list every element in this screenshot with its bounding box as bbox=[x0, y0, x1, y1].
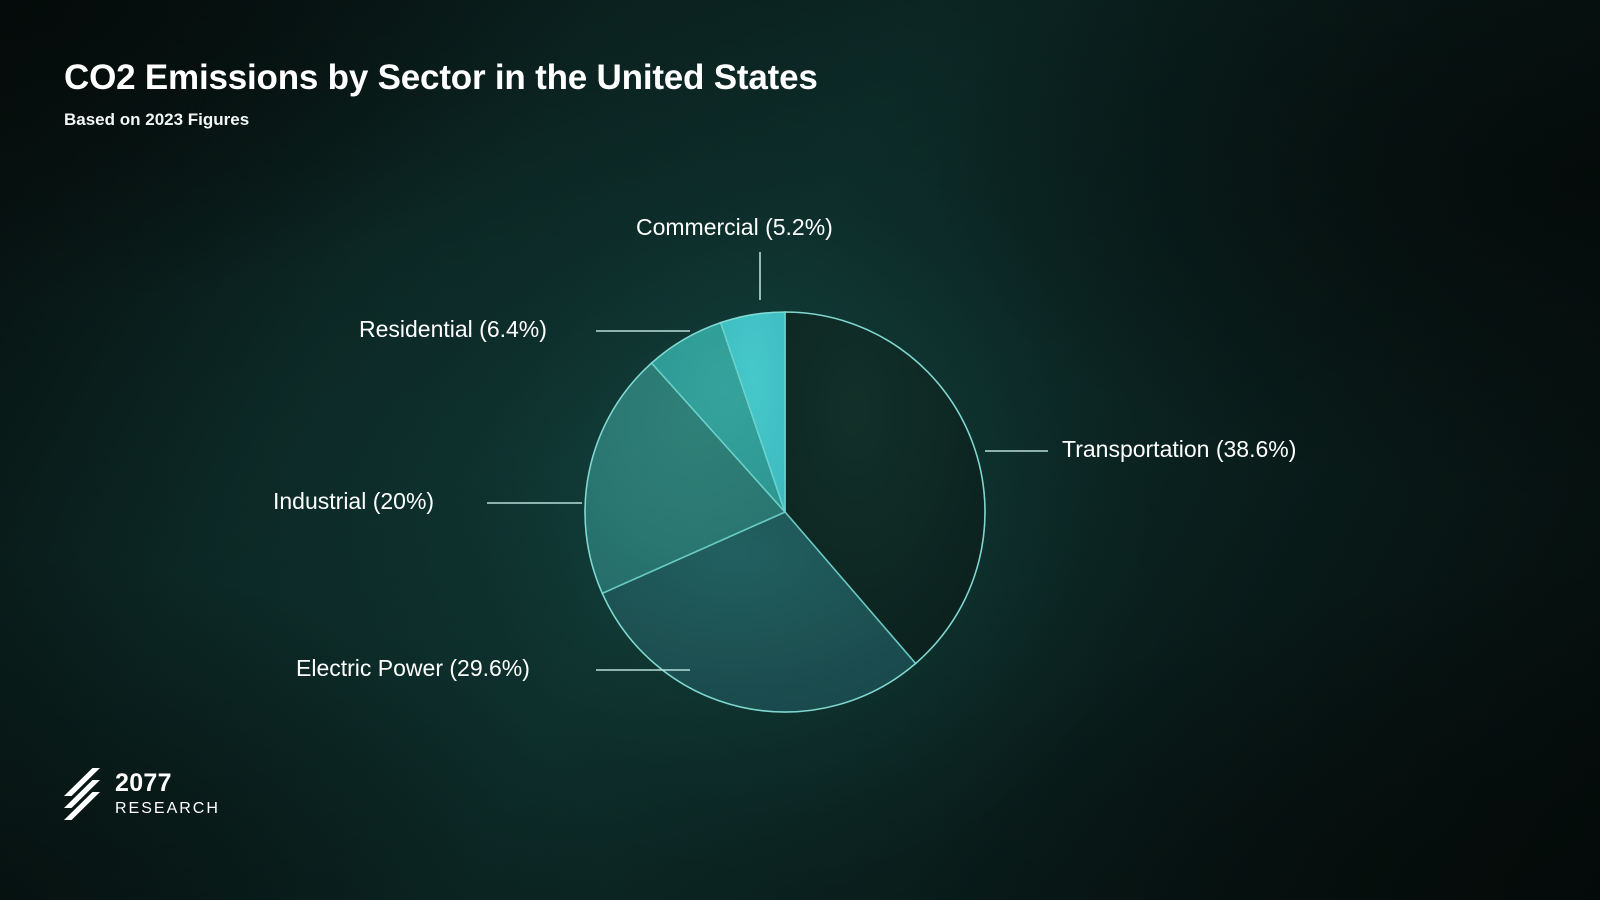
slice-label-industrial: Industrial (20%) bbox=[273, 490, 434, 513]
brand-name: 2077 bbox=[115, 771, 220, 796]
pie-slices bbox=[585, 312, 985, 712]
brand-wordmark: RESEARCH bbox=[115, 801, 220, 817]
brand-logo: 2077 RESEARCH bbox=[62, 768, 220, 820]
brand-logo-text: 2077 RESEARCH bbox=[115, 771, 220, 817]
slice-label-commercial: Commercial (5.2%) bbox=[636, 216, 833, 239]
slice-label-electric-power: Electric Power (29.6%) bbox=[296, 657, 530, 680]
pie-chart-svg bbox=[0, 0, 1600, 900]
chart-canvas: CO2 Emissions by Sector in the United St… bbox=[0, 0, 1600, 900]
pie-chart: Commercial (5.2%) Residential (6.4%) Ind… bbox=[0, 0, 1600, 900]
three-slanted-bars-icon bbox=[62, 768, 102, 820]
slice-label-residential: Residential (6.4%) bbox=[359, 318, 547, 341]
slice-label-transportation: Transportation (38.6%) bbox=[1062, 438, 1296, 461]
